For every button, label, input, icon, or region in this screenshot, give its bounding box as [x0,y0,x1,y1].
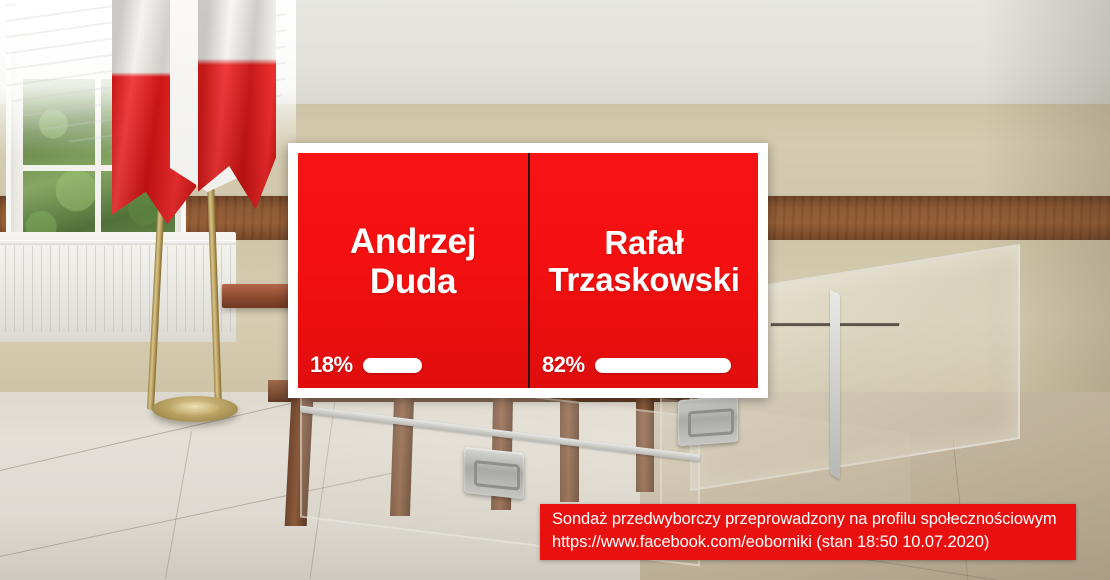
percent-label-duda: 18% [310,352,353,378]
percent-bar-track-duda [363,358,423,373]
percent-bar-fill-duda [363,358,423,373]
flag-stand-base [152,396,238,422]
candidate-name-trzaskowski: Rafał Trzaskowski [542,225,745,299]
ballot-box-latch [464,447,524,499]
percent-label-trzaskowski: 82% [542,352,585,378]
screenshot-stage: Andrzej Duda 18% Rafał Trzaskowski 82% [0,0,1110,580]
poll-card-inner: Andrzej Duda 18% Rafał Trzaskowski 82% [298,153,758,388]
ballot-box-edge-rail [830,289,840,479]
ballot-box-latch [678,396,738,446]
candidate-panel-trzaskowski[interactable]: Rafał Trzaskowski 82% [528,153,758,388]
caption-line-1: Sondaż przedwyborczy przeprowadzony na p… [552,508,1066,531]
result-row-trzaskowski: 82% [542,352,731,378]
result-row-duda: 18% [310,352,422,378]
radiator [0,232,236,342]
candidate-name-line2: Trzaskowski [548,262,739,299]
candidate-name-line2: Duda [350,262,476,301]
candidate-name-line1: Rafał [548,225,739,262]
percent-bar-track-trzaskowski [595,358,731,373]
candidate-name-duda: Andrzej Duda [344,222,482,300]
poll-result-card: Andrzej Duda 18% Rafał Trzaskowski 82% [288,143,768,398]
candidate-name-line1: Andrzej [350,222,476,261]
polish-flag [198,0,276,209]
candidate-panel-duda[interactable]: Andrzej Duda 18% [298,153,528,388]
caption-line-2: https://www.facebook.com/eoborniki (stan… [552,531,1066,554]
percent-bar-fill-trzaskowski [595,358,731,373]
source-caption-banner: Sondaż przedwyborczy przeprowadzony na p… [540,504,1076,560]
